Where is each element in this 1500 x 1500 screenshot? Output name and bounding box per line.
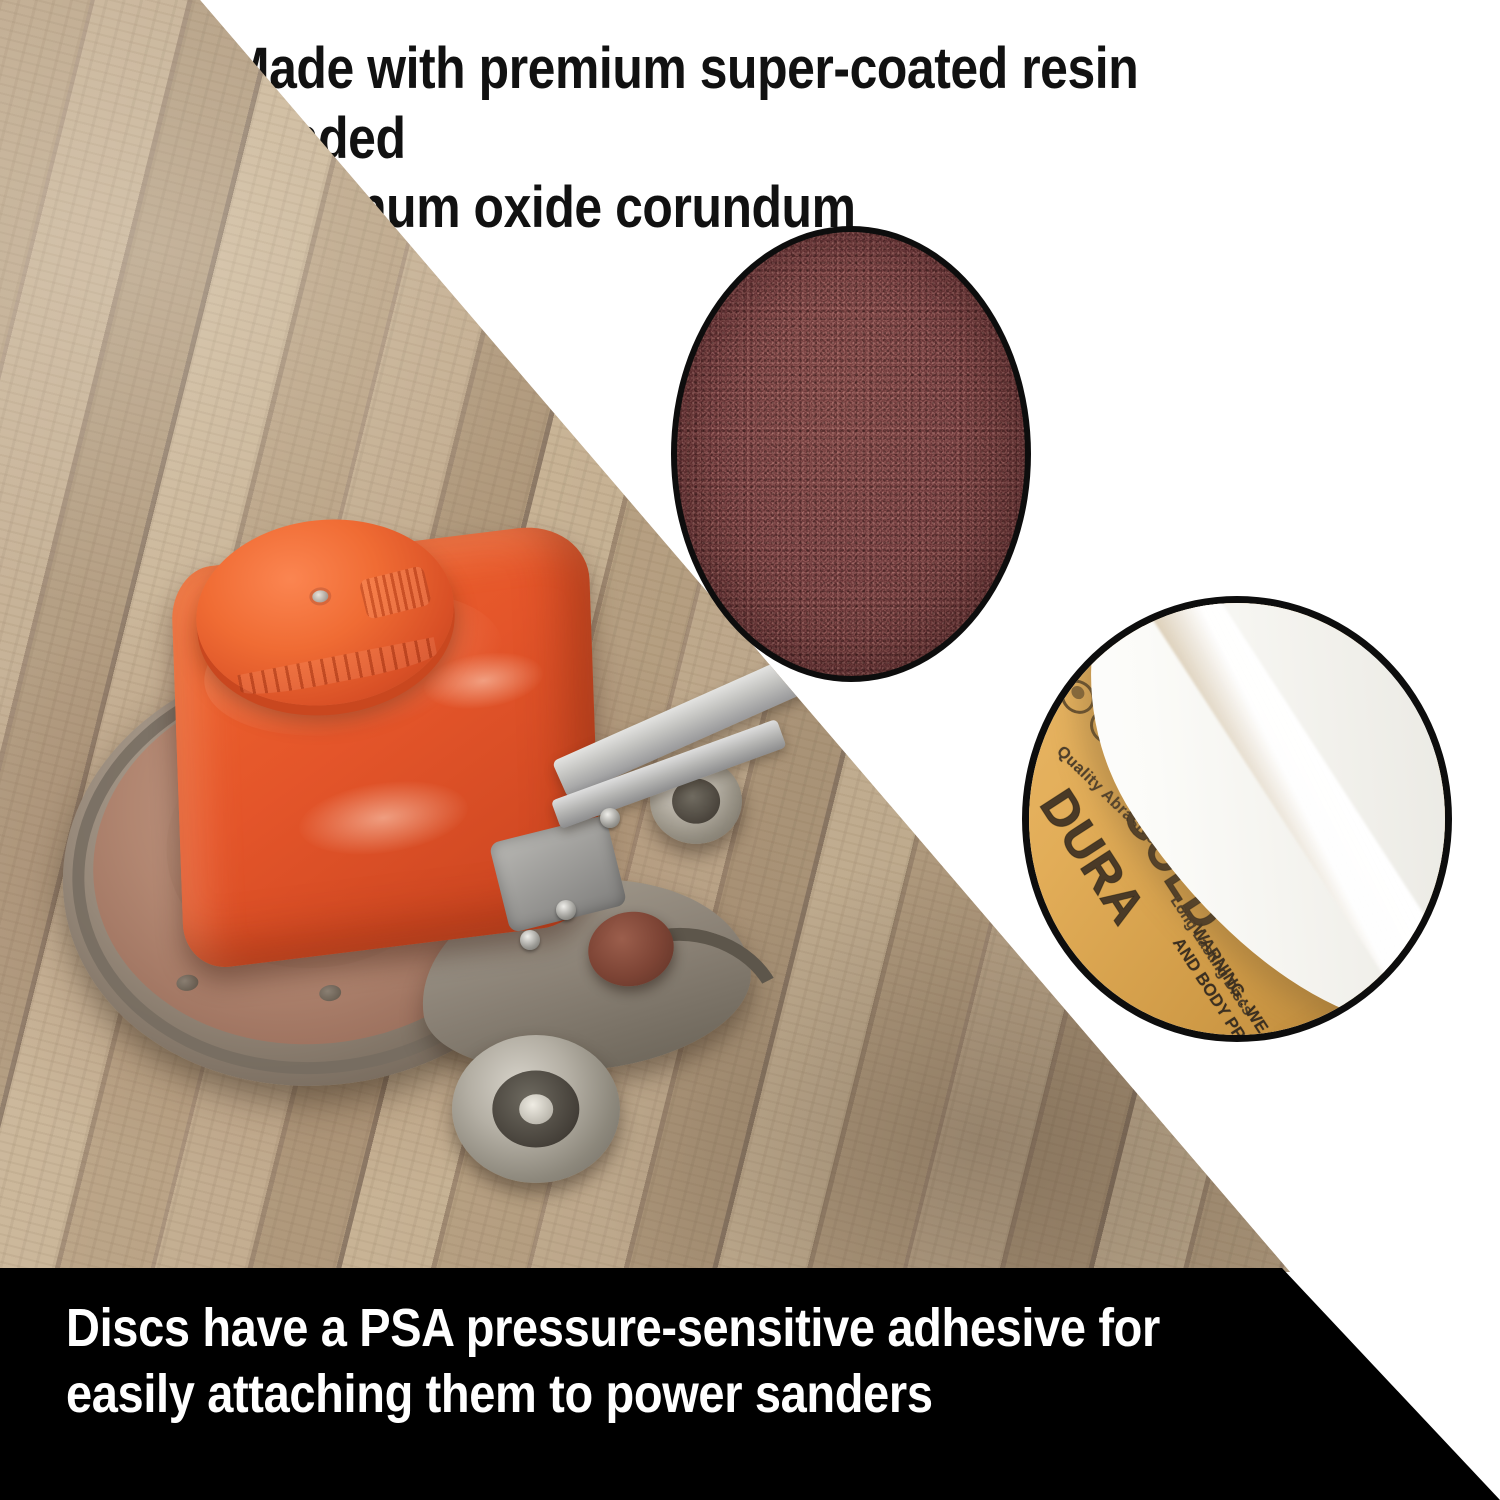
handle-bolt — [600, 808, 620, 828]
motor-vent-grille — [358, 565, 432, 620]
abrasive-disc-closeup — [671, 226, 1031, 682]
handle-bolt — [556, 900, 576, 920]
motor-cap-screw — [312, 590, 329, 604]
handle-bolt — [520, 930, 540, 950]
bottom-banner: Discs have a PSA pressure-sensitive adhe… — [0, 1268, 1500, 1500]
psa-backing-closeup: Quality Abrasives DURA GOLD Long Lasting… — [1022, 596, 1452, 1042]
machine-wheel-front — [452, 1035, 620, 1183]
infographic-canvas: Made with premium super-coated resin bon… — [0, 0, 1500, 1500]
shroud-scuff-mark — [298, 772, 469, 863]
wheel-axle-cap — [519, 1094, 553, 1124]
headline-text: Made with premium super-coated resin bon… — [228, 34, 1251, 243]
banner-text: Discs have a PSA pressure-sensitive adhe… — [66, 1296, 1214, 1428]
